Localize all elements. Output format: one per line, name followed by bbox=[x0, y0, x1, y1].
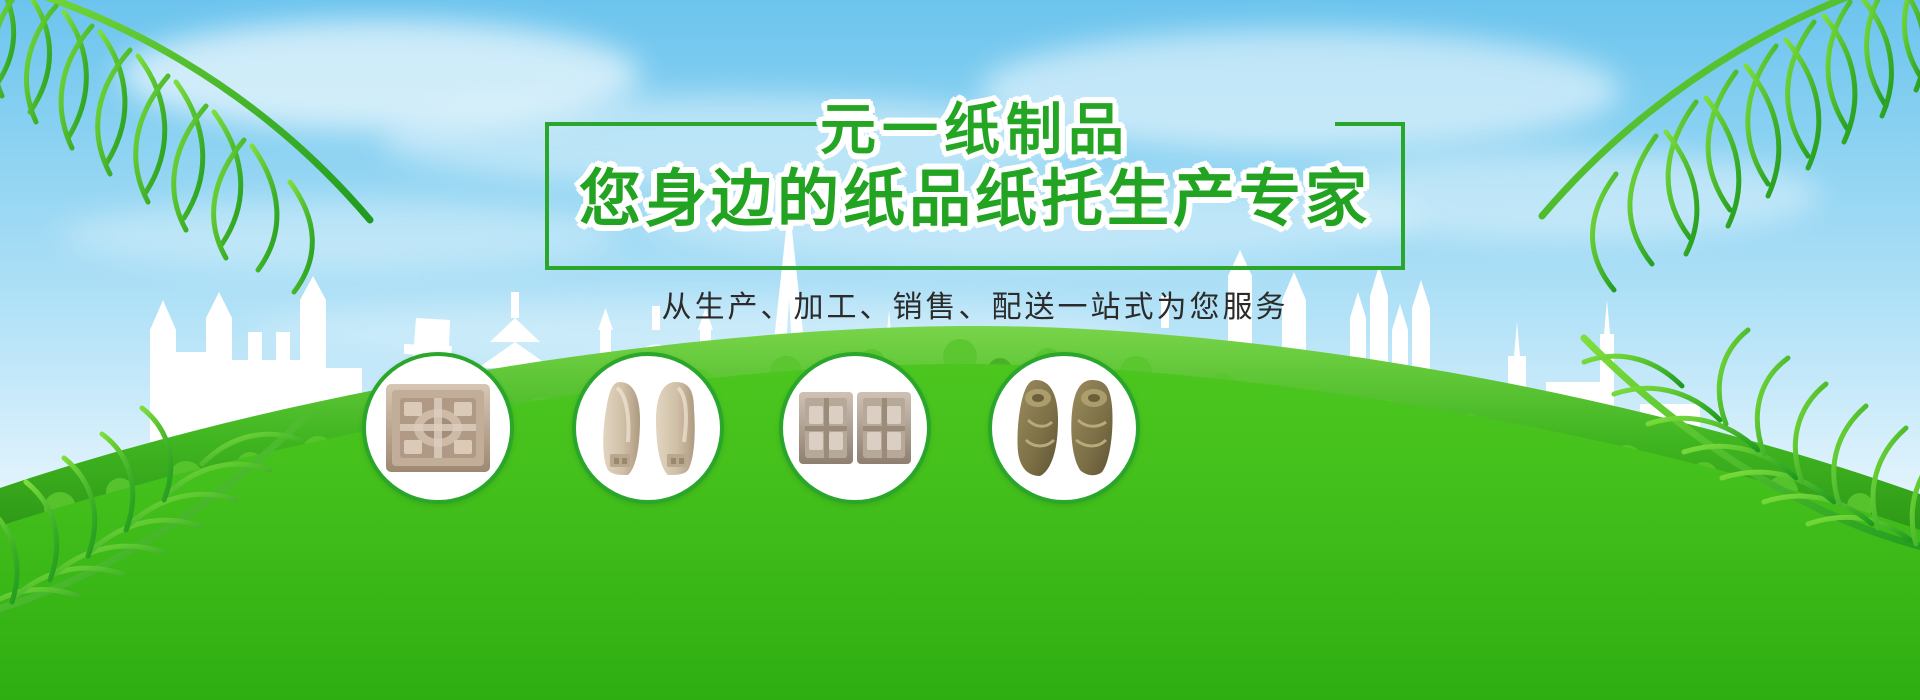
headline-line-2: 您身边的纸品纸托生产专家 bbox=[545, 162, 1405, 236]
product-circle-dark-shoe-inserts[interactable] bbox=[988, 352, 1140, 504]
banner-subtitle: 从生产、加工、销售、配送一站式为您服务 bbox=[545, 288, 1405, 328]
product-showcase bbox=[0, 352, 1920, 532]
product-circle-shoe-last-pair[interactable] bbox=[572, 352, 724, 504]
promo-banner: 元一纸制品 您身边的纸品纸托生产专家 从生产、加工、销售、配送一站式为您服务 bbox=[0, 0, 1920, 700]
square-pulp-tray-icon bbox=[380, 376, 496, 480]
paired-pulp-trays-icon bbox=[797, 376, 913, 480]
headline-line-1: 元一纸制品 bbox=[545, 100, 1405, 162]
product-circle-square-pulp-tray[interactable] bbox=[362, 352, 514, 504]
product-circle-paired-pulp-trays[interactable] bbox=[779, 352, 931, 504]
shoe-last-pair-icon bbox=[590, 376, 706, 480]
dark-shoe-inserts-icon bbox=[1006, 376, 1122, 480]
headline-block: 元一纸制品 您身边的纸品纸托生产专家 bbox=[545, 100, 1405, 270]
